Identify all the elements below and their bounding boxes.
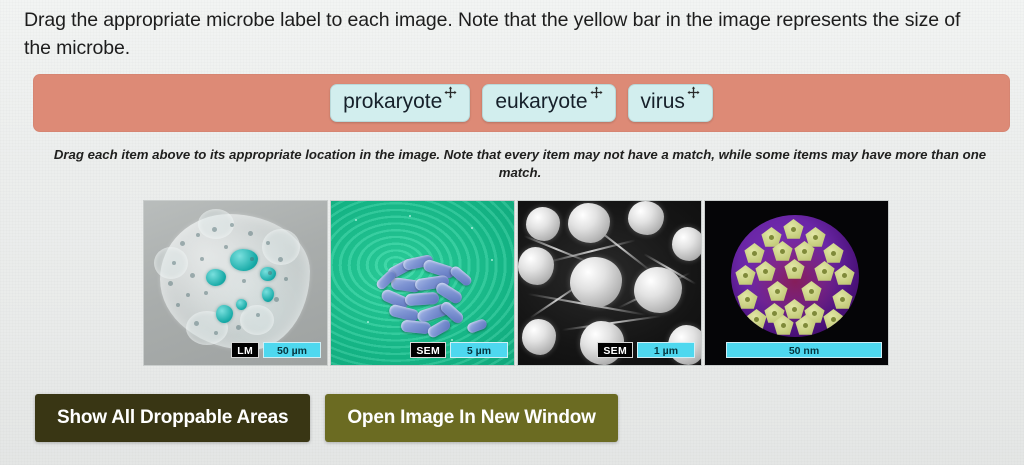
drop-target-rod-bacteria-sem[interactable]: SEM 5 µm xyxy=(330,200,515,366)
microscopy-technique-badge: SEM xyxy=(410,342,446,358)
amoeba-granule xyxy=(284,277,288,281)
move-handle-icon[interactable] xyxy=(687,86,700,99)
amoeba-granule xyxy=(274,297,279,302)
capsomere xyxy=(783,219,804,240)
capsomere xyxy=(814,261,835,282)
surface-speck xyxy=(355,219,357,221)
amoeba-granule xyxy=(176,303,180,307)
scale-length-label: 50 nm xyxy=(726,342,882,358)
page-title: Drag the appropriate microbe label to ea… xyxy=(24,6,964,62)
amoeba-granule xyxy=(204,291,208,295)
round-cell xyxy=(570,257,622,307)
drag-chip-virus[interactable]: virus xyxy=(628,84,713,122)
capsomere xyxy=(823,243,844,264)
amoeba-granule xyxy=(224,245,228,249)
drop-target-round-cells-sem[interactable]: SEM 1 µm xyxy=(517,200,702,366)
surface-speck xyxy=(409,215,411,217)
capsomere xyxy=(744,243,765,264)
amoeba-granule xyxy=(236,325,241,330)
amoeba-granule xyxy=(242,279,246,283)
drag-chip-eukaryote[interactable]: eukaryote xyxy=(482,84,615,122)
round-cell xyxy=(634,267,682,313)
amoeba-granule xyxy=(268,271,272,275)
round-cell xyxy=(628,201,664,235)
capsomere xyxy=(784,259,805,280)
rod-bacteria-sem-art xyxy=(331,201,514,365)
capsomere xyxy=(735,265,756,286)
scale-bar: 50 nm xyxy=(726,342,882,358)
capsomere xyxy=(834,265,855,286)
move-handle-icon[interactable] xyxy=(590,86,603,99)
scale-bar: SEM 1 µm xyxy=(597,342,695,358)
surface-speck xyxy=(471,227,473,229)
scale-bar: LM 50 µm xyxy=(231,342,321,358)
microscopy-technique-badge: SEM xyxy=(597,342,633,358)
drop-target-amoeba-light-micrograph[interactable]: LM 50 µm xyxy=(143,200,328,366)
amoeba-granule xyxy=(266,241,270,245)
amoeba-lobe xyxy=(240,305,274,335)
surface-speck xyxy=(451,339,453,341)
drag-instruction-text: Drag each item above to its appropriate … xyxy=(36,146,1004,182)
amoeba-granule xyxy=(186,293,190,297)
microscopy-technique-badge: LM xyxy=(231,342,259,358)
capsomere xyxy=(767,281,788,302)
virus-capsid-model-art xyxy=(705,201,888,365)
amoeba-granule xyxy=(214,331,218,335)
virus-capsid xyxy=(731,215,859,337)
drop-target-virus-capsid-model[interactable]: 50 nm xyxy=(704,200,889,366)
show-all-droppable-areas-button[interactable]: Show All Droppable Areas xyxy=(35,394,310,442)
scale-length-label: 1 µm xyxy=(637,342,695,358)
drag-source-bar: prokaryote eukaryote virus xyxy=(33,74,1010,132)
round-cell xyxy=(526,207,560,241)
drag-chip-label: prokaryote xyxy=(343,88,442,116)
scale-length-label: 5 µm xyxy=(450,342,508,358)
capsomere xyxy=(801,281,822,302)
surface-speck xyxy=(491,259,493,261)
amoeba-granule xyxy=(200,257,204,261)
drag-chip-prokaryote[interactable]: prokaryote xyxy=(330,84,470,122)
capsomere xyxy=(755,261,776,282)
amoeba-granule xyxy=(172,261,176,265)
amoeba-granule xyxy=(194,321,199,326)
action-button-row: Show All Droppable Areas Open Image In N… xyxy=(35,394,618,442)
amoeba-granule xyxy=(196,233,200,237)
amoeba-light-micrograph-art xyxy=(144,201,327,365)
drag-chip-label: eukaryote xyxy=(495,88,587,116)
move-handle-icon[interactable] xyxy=(444,86,457,99)
amoeba-granule xyxy=(230,223,234,227)
amoeba-lobe xyxy=(154,247,188,279)
drag-chip-label: virus xyxy=(641,88,685,116)
amoeba-granule xyxy=(256,313,260,317)
round-cell xyxy=(522,319,556,355)
amoeba-granule xyxy=(212,227,217,232)
round-cell xyxy=(518,247,554,285)
rod-bacterium xyxy=(405,292,440,306)
amoeba-lobe xyxy=(198,209,234,239)
amoeba-granule xyxy=(190,273,195,278)
amoeba-granule xyxy=(278,257,283,262)
round-cells-sem-art xyxy=(518,201,701,365)
scale-length-label: 50 µm xyxy=(263,342,321,358)
amoeba-granule xyxy=(248,231,253,236)
capsomere xyxy=(784,299,805,320)
open-image-in-new-window-button[interactable]: Open Image In New Window xyxy=(325,394,617,442)
microscopy-image-strip: LM 50 µm xyxy=(143,200,889,366)
capsomere xyxy=(832,289,853,310)
amoeba-granule xyxy=(250,257,254,261)
capsomere xyxy=(737,289,758,310)
surface-speck xyxy=(367,321,369,323)
amoeba-granule xyxy=(168,281,173,286)
scale-bar: SEM 5 µm xyxy=(410,342,508,358)
amoeba-granule xyxy=(180,241,185,246)
round-cell xyxy=(568,203,610,243)
capsomere xyxy=(746,309,767,330)
round-cell xyxy=(672,227,702,261)
capsomere xyxy=(823,309,844,330)
